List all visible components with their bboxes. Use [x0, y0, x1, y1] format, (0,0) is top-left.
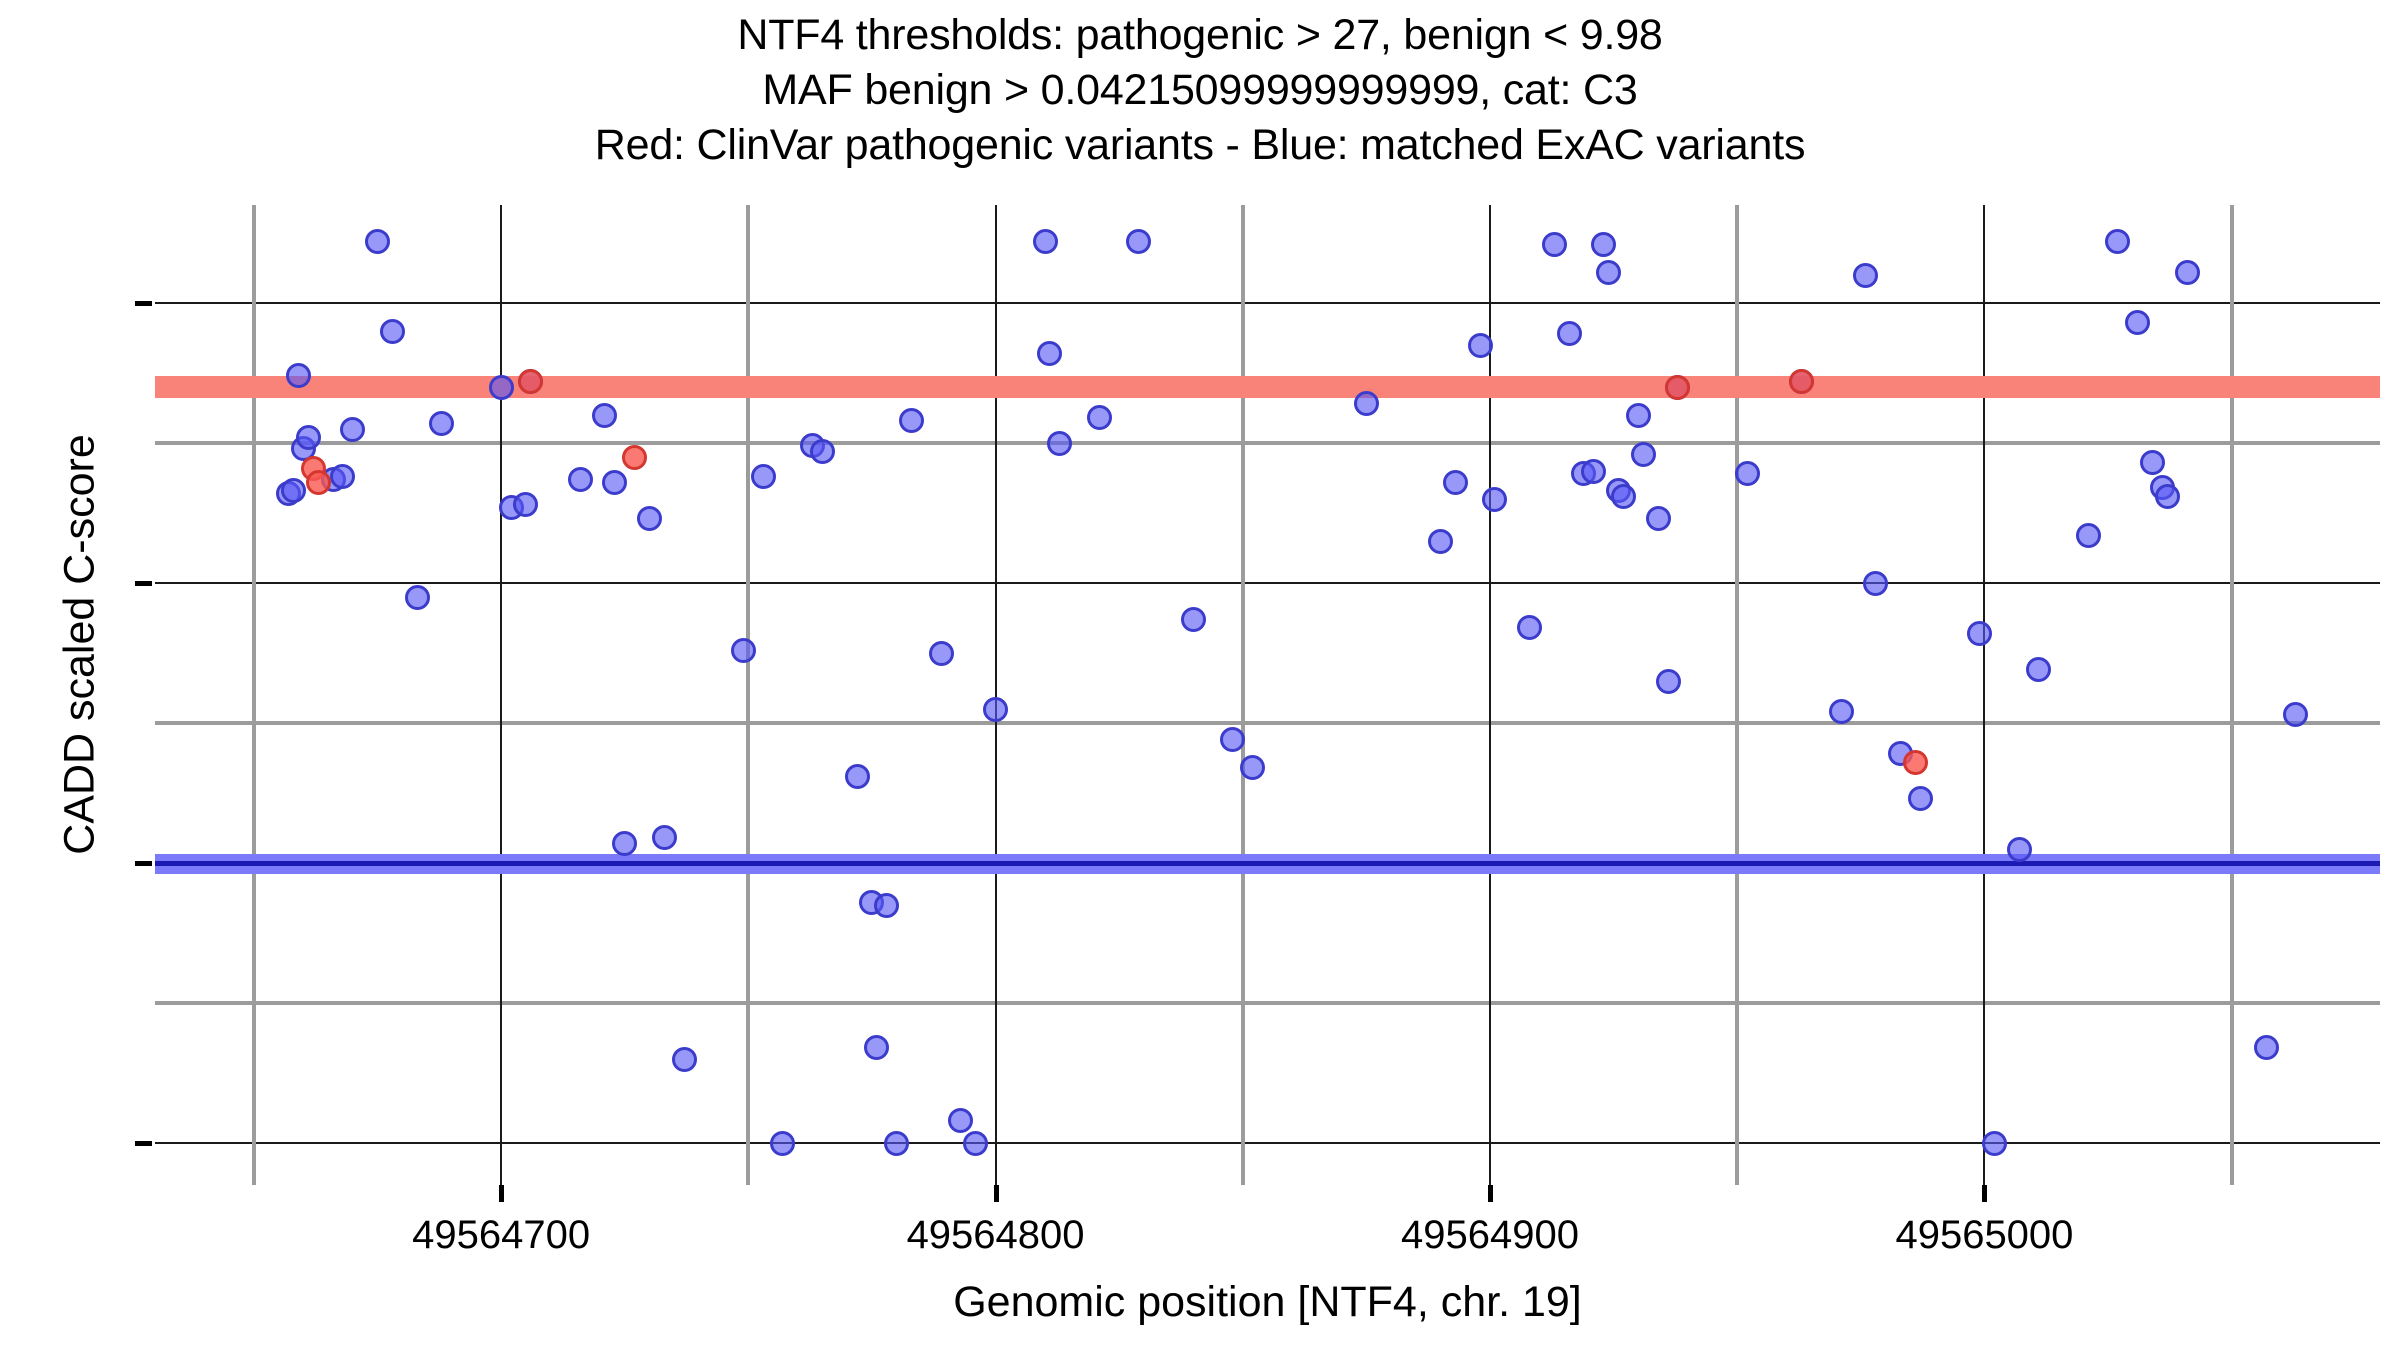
point-exac-variant[interactable] — [1591, 232, 1616, 257]
point-exac-variant[interactable] — [2007, 837, 2032, 862]
point-exac-variant[interactable] — [2026, 657, 2051, 682]
point-exac-variant[interactable] — [286, 363, 311, 388]
point-exac-variant[interactable] — [340, 417, 365, 442]
gridline-x-major — [1983, 205, 1985, 1185]
x-tick-label: 49564900 — [1280, 1213, 1700, 1258]
point-exac-variant[interactable] — [929, 641, 954, 666]
point-exac-variant[interactable] — [1646, 506, 1671, 531]
point-exac-variant[interactable] — [568, 467, 593, 492]
point-exac-variant[interactable] — [899, 408, 924, 433]
point-exac-variant[interactable] — [672, 1047, 697, 1072]
gridline-x-minor — [2230, 205, 2234, 1185]
point-exac-variant[interactable] — [1853, 263, 1878, 288]
point-exac-variant[interactable] — [751, 464, 776, 489]
point-exac-variant[interactable] — [1443, 470, 1468, 495]
point-exac-variant[interactable] — [874, 893, 899, 918]
y-tick-mark — [135, 581, 152, 586]
point-clinvar-pathogenic[interactable] — [1665, 375, 1690, 400]
point-exac-variant[interactable] — [864, 1035, 889, 1060]
gridline-y-minor — [155, 441, 2380, 445]
y-axis-label: CADD scaled C-score — [56, 265, 105, 1025]
point-exac-variant[interactable] — [948, 1108, 973, 1133]
title-line-2: MAF benign > 0.04215099999999999, cat: C… — [0, 63, 2400, 118]
point-exac-variant[interactable] — [281, 478, 306, 503]
point-exac-variant[interactable] — [1482, 487, 1507, 512]
point-exac-variant[interactable] — [845, 764, 870, 789]
point-exac-variant[interactable] — [380, 319, 405, 344]
gridline-y-minor — [155, 721, 2380, 725]
point-exac-variant[interactable] — [770, 1131, 795, 1156]
x-tick-mark — [1982, 1185, 1987, 1202]
point-exac-variant[interactable] — [1542, 232, 1567, 257]
gridline-x-minor — [252, 205, 256, 1185]
gridline-y-major — [155, 1142, 2380, 1144]
point-exac-variant[interactable] — [513, 492, 538, 517]
point-exac-variant[interactable] — [652, 825, 677, 850]
benign-threshold-band — [155, 854, 2380, 874]
point-exac-variant[interactable] — [1829, 699, 1854, 724]
point-exac-variant[interactable] — [1517, 615, 1542, 640]
point-exac-variant[interactable] — [1047, 431, 1072, 456]
point-exac-variant[interactable] — [592, 403, 617, 428]
point-exac-variant[interactable] — [963, 1131, 988, 1156]
point-exac-variant[interactable] — [1354, 391, 1379, 416]
point-clinvar-pathogenic[interactable] — [622, 445, 647, 470]
gridline-x-major — [500, 205, 502, 1185]
gridline-y-major — [155, 302, 2380, 304]
point-exac-variant[interactable] — [637, 506, 662, 531]
y-tick-mark — [135, 861, 152, 866]
point-exac-variant[interactable] — [1468, 333, 1493, 358]
point-exac-variant[interactable] — [365, 229, 390, 254]
point-exac-variant[interactable] — [1181, 607, 1206, 632]
point-exac-variant[interactable] — [731, 638, 756, 663]
point-exac-variant[interactable] — [2105, 229, 2130, 254]
point-exac-variant[interactable] — [1735, 461, 1760, 486]
point-exac-variant[interactable] — [2125, 310, 2150, 335]
point-exac-variant[interactable] — [1126, 229, 1151, 254]
point-exac-variant[interactable] — [884, 1131, 909, 1156]
point-exac-variant[interactable] — [489, 375, 514, 400]
x-tick-mark — [499, 1185, 504, 1202]
point-exac-variant[interactable] — [1557, 321, 1582, 346]
point-exac-variant[interactable] — [1037, 341, 1062, 366]
point-exac-variant[interactable] — [1967, 621, 1992, 646]
point-exac-variant[interactable] — [2076, 523, 2101, 548]
point-exac-variant[interactable] — [330, 464, 355, 489]
point-exac-variant[interactable] — [1428, 529, 1453, 554]
point-exac-variant[interactable] — [2175, 260, 2200, 285]
point-exac-variant[interactable] — [1982, 1131, 2007, 1156]
point-exac-variant[interactable] — [2254, 1035, 2279, 1060]
point-exac-variant[interactable] — [2155, 484, 2180, 509]
gridline-y-major — [155, 582, 2380, 584]
point-clinvar-pathogenic[interactable] — [306, 470, 331, 495]
plot-area: 010203049564700495648004956490049565000 — [155, 205, 2380, 1185]
x-tick-label: 49564700 — [291, 1213, 711, 1258]
y-tick-mark — [135, 1141, 152, 1146]
benign-threshold-line — [155, 861, 2380, 866]
point-exac-variant[interactable] — [405, 585, 430, 610]
point-exac-variant[interactable] — [429, 411, 454, 436]
y-tick-mark — [135, 301, 152, 306]
point-exac-variant[interactable] — [1596, 260, 1621, 285]
point-exac-variant[interactable] — [602, 470, 627, 495]
point-exac-variant[interactable] — [810, 439, 835, 464]
point-exac-variant[interactable] — [1087, 405, 1112, 430]
x-tick-mark — [994, 1185, 999, 1202]
point-exac-variant[interactable] — [983, 697, 1008, 722]
x-tick-label: 49565000 — [1774, 1213, 2194, 1258]
gridline-x-minor — [1241, 205, 1245, 1185]
point-exac-variant[interactable] — [612, 831, 637, 856]
point-exac-variant[interactable] — [1908, 786, 1933, 811]
gridline-x-minor — [746, 205, 750, 1185]
x-axis-label: Genomic position [NTF4, chr. 19] — [155, 1278, 2380, 1327]
point-exac-variant[interactable] — [1240, 755, 1265, 780]
gridline-x-major — [995, 205, 997, 1185]
point-exac-variant[interactable] — [1581, 459, 1606, 484]
x-tick-mark — [1488, 1185, 1493, 1202]
point-exac-variant[interactable] — [2140, 450, 2165, 475]
x-tick-label: 49564800 — [786, 1213, 1206, 1258]
point-exac-variant[interactable] — [1626, 403, 1651, 428]
point-clinvar-pathogenic[interactable] — [518, 369, 543, 394]
point-clinvar-pathogenic[interactable] — [1789, 369, 1814, 394]
point-exac-variant[interactable] — [1631, 442, 1656, 467]
gridline-x-minor — [1735, 205, 1739, 1185]
point-exac-variant[interactable] — [1656, 669, 1681, 694]
point-exac-variant[interactable] — [296, 425, 321, 450]
cadd-scatter-figure: NTF4 thresholds: pathogenic > 27, benign… — [0, 0, 2400, 1350]
point-exac-variant[interactable] — [1033, 229, 1058, 254]
chart-title: NTF4 thresholds: pathogenic > 27, benign… — [0, 8, 2400, 173]
point-clinvar-pathogenic[interactable] — [1903, 750, 1928, 775]
title-line-1: NTF4 thresholds: pathogenic > 27, benign… — [0, 8, 2400, 63]
gridline-y-minor — [155, 1001, 2380, 1005]
point-exac-variant[interactable] — [1863, 571, 1888, 596]
title-line-3: Red: ClinVar pathogenic variants - Blue:… — [0, 118, 2400, 173]
point-exac-variant[interactable] — [1611, 484, 1636, 509]
